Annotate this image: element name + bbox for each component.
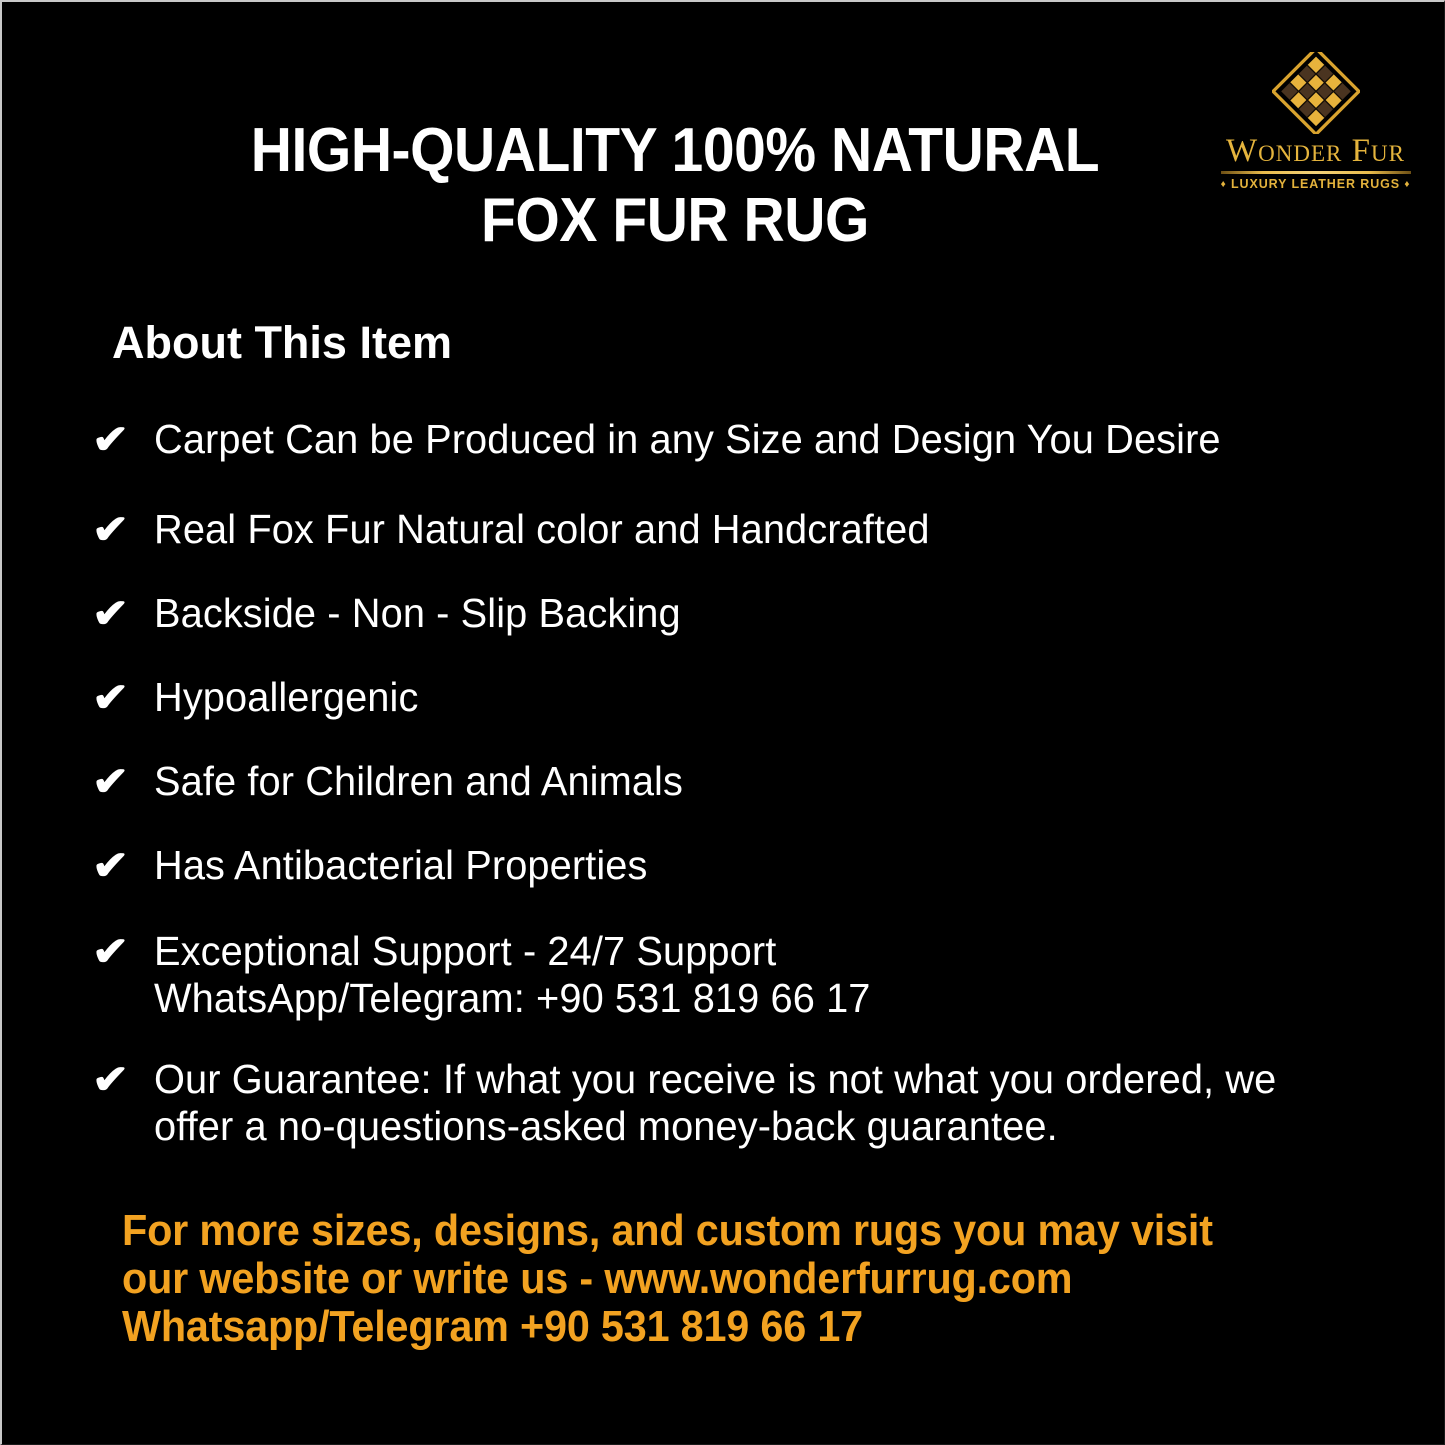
list-item: ✔ Safe for Children and Animals [92, 758, 1382, 806]
check-icon: ✔ [92, 758, 157, 804]
logo-brand-name: Wonder Fur [1213, 135, 1418, 168]
list-item: ✔ Hypoallergenic [92, 674, 1382, 722]
list-item-label: Our Guarantee: If what you receive is no… [154, 1056, 1345, 1150]
list-item: ✔ Our Guarantee: If what you receive is … [92, 1056, 1382, 1150]
list-item-label: Has Antibacterial Properties [154, 842, 1345, 889]
list-item: ✔ Real Fox Fur Natural color and Handcra… [92, 506, 1382, 554]
footer-line-1: For more sizes, designs, and custom rugs… [122, 1207, 1297, 1255]
check-icon: ✔ [92, 842, 157, 888]
logo-tagline-text: LUXURY LEATHER RUGS [1231, 177, 1400, 191]
check-icon: ✔ [92, 416, 157, 462]
page-title-line-1: HIGH-QUALITY 100% NATURAL [192, 116, 1158, 186]
about-this-item-heading: About This Item [112, 318, 452, 368]
diamond-ornament-left-icon: ♦ [1221, 179, 1227, 190]
logo-divider [1221, 171, 1411, 174]
page-title-line-2: FOX FUR RUG [192, 186, 1158, 256]
list-item: ✔ Has Antibacterial Properties [92, 842, 1382, 890]
check-icon: ✔ [92, 590, 157, 636]
footer-line-3: Whatsapp/Telegram +90 531 819 66 17 [122, 1303, 1297, 1351]
page-title: HIGH-QUALITY 100% NATURAL FOX FUR RUG [192, 116, 1158, 256]
diamond-ornament-right-icon: ♦ [1404, 179, 1410, 190]
list-item: ✔ Carpet Can be Produced in any Size and… [92, 416, 1382, 464]
brand-logo: Wonder Fur ♦ LUXURY LEATHER RUGS ♦ [1213, 52, 1418, 192]
check-icon: ✔ [92, 506, 157, 552]
list-item: ✔ Backside - Non - Slip Backing [92, 590, 1382, 638]
list-item-label: Hypoallergenic [154, 674, 1345, 721]
logo-tagline: ♦ LUXURY LEATHER RUGS ♦ [1213, 177, 1418, 191]
list-item-label: Backside - Non - Slip Backing [154, 590, 1345, 637]
list-item-label: Safe for Children and Animals [154, 758, 1345, 805]
promo-image-root: Wonder Fur ♦ LUXURY LEATHER RUGS ♦ HIGH-… [0, 0, 1445, 1445]
check-icon: ✔ [92, 1056, 157, 1102]
contact-footer: For more sizes, designs, and custom rugs… [122, 1207, 1297, 1351]
footer-line-2: our website or write us - www.wonderfurr… [122, 1255, 1297, 1303]
check-icon: ✔ [92, 674, 157, 720]
list-item-label: Real Fox Fur Natural color and Handcraft… [154, 506, 1345, 553]
list-item: ✔ Exceptional Support - 24/7 Support Wha… [92, 928, 1382, 1022]
list-item-label: Carpet Can be Produced in any Size and D… [154, 416, 1345, 463]
check-icon: ✔ [92, 928, 157, 974]
feature-list: ✔ Carpet Can be Produced in any Size and… [92, 416, 1382, 1150]
diamond-checkerboard-logo-icon [1213, 52, 1418, 134]
list-item-label: Exceptional Support - 24/7 Support Whats… [154, 928, 1345, 1022]
